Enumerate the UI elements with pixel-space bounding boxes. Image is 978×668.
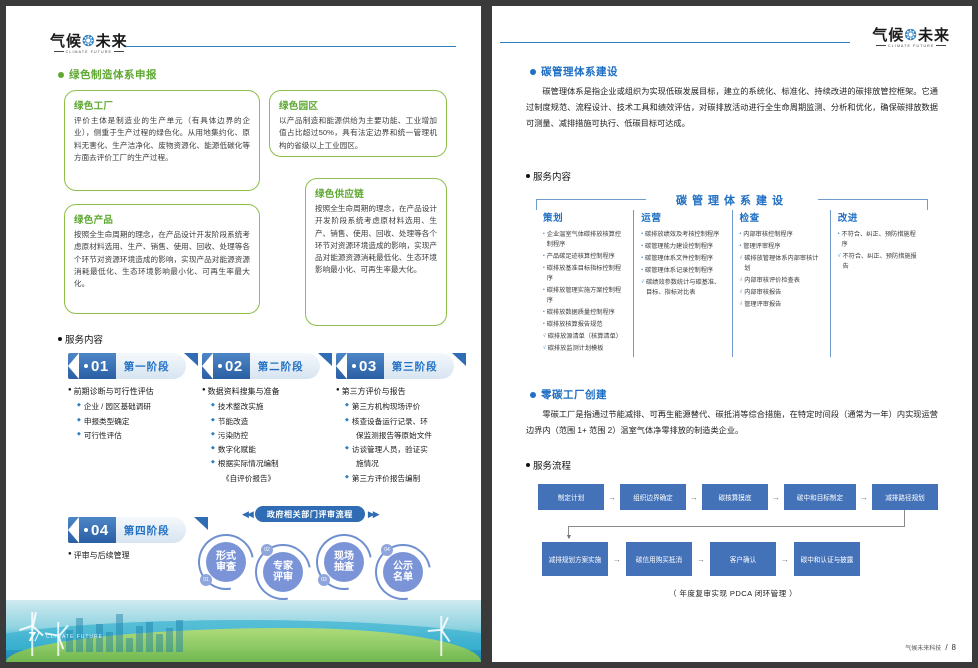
paragraph-zero-carbon-factory: 零碳工厂是指通过节能减排、可再生能源替代、碳抵消等综合措施，在特定时间段（通常为… [526,407,938,439]
table-item: √内部审核报告 [740,288,823,298]
flow-node-r1-1: 制定计划 [538,484,604,510]
subheading-service-content-left: 服务内容 [58,332,103,346]
phase-label-03: 第三阶段 [384,353,454,379]
logo-wordmark: 气候❂未来 [872,28,950,43]
table-item: •产品碳足迹核算控制程序 [543,252,626,262]
table-item: •碳管理能力建设控制程序 [641,242,724,252]
flow-node-r1-4: 碳中和目标制定 [784,484,856,510]
service-flow-chart: 制定计划 → 组织边界确定 → 碳核算摸底 → 碳中和目标制定 → 减排路径规划… [528,484,938,619]
header-rule-right [500,42,850,43]
table-rule-left [536,199,646,200]
flow-arrow-icon: → [604,484,620,510]
page-number-left: 7/ [28,629,39,644]
header-rule-left [126,46,456,47]
table-item: •企业温室气体碳排放核算控制程序 [543,230,626,250]
phase-item: 污染防控 [211,430,332,442]
brand-logo-left: 气候❂未来 CLIMATE FUTURE [50,34,128,55]
phase-item: 节能改造 [211,416,332,428]
paragraph-carbon-management: 碳管理体系是指企业或组织为实现低碳发展目标，建立的系统化、标准化、持续改进的碳排… [526,84,938,132]
section-heading-green-manufacturing: 绿色制造体系申报 [58,67,157,82]
phase-tag-03[interactable]: 03 第三阶段 [336,353,466,379]
flow-connector-horizontal [568,526,905,527]
gov-review-label: 政府相关部门评审流程 [255,506,365,522]
phase-card-02[interactable]: 02 第二阶段 数据资料搜集与准备 技术整改实施 节能改造 污染防控 数字化赋能… [202,353,332,487]
flow-arrow-icon: → [856,484,872,510]
table-item: •碳排放数据质量控制程序 [543,308,626,318]
phase-corner-02 [318,353,332,366]
green-box-supply-chain: 绿色供应链 按照全生命周期的理念，在产品设计开发阶段系统考虑原材料选用、生产、销… [305,178,447,326]
table-item: √碳绩效参数统计与碳基准、目标、指标对比表 [641,278,724,298]
table-item: •不符合、纠正、预防措施程序 [838,230,921,250]
phase-label-01: 第一阶段 [116,353,186,379]
gov-step-index: 01 [200,574,212,586]
cityscape-icon [66,614,183,652]
phase-number-04: 04 [68,517,116,543]
phase-head: 评审与后续管理 [68,550,208,562]
table-tick-right [927,199,928,210]
phase-item-cont: 保监测报告等原始文件 [356,430,466,442]
document-spread: 气候❂未来 CLIMATE FUTURE 绿色制造体系申报 绿色工厂 评价主体是… [0,0,978,668]
section-heading-carbon-management: 碳管理体系建设 [530,64,618,79]
flow-arrow-icon: → [776,542,794,576]
column-header: 检查 [740,210,823,224]
flow-arrow-icon: → [692,542,710,576]
bullet-icon [58,72,64,78]
flow-node-r2-2: 碳信用购买抵消 [626,542,692,576]
table-item: √碳排放监测计划模板 [543,344,626,354]
gov-step-04[interactable]: 公示名单 04 [375,544,431,600]
flow-node-r2-3: 客户确认 [710,542,776,576]
phase-item: 数字化赋能 [211,444,332,456]
gov-step-index: 02 [261,544,273,556]
footer-brand-right: 气候未来科技 [905,643,941,652]
phase-corner-01 [184,353,198,366]
flow-node-r2-1: 减排规划方案实施 [542,542,608,576]
table-item: √管理评审报告 [740,300,823,310]
table-column-planning: 策划 •企业温室气体碳排放核算控制程序 •产品碳足迹核算控制程序 •碳排放基准目… [536,210,633,357]
phase-item: 企业 / 园区基础调研 [77,401,198,413]
phase-corner-03 [452,353,466,366]
gov-step-index: 03 [318,574,330,586]
subheading-service-flow: 服务流程 [526,458,571,472]
brand-logo-right: 气候❂未来 CLIMATE FUTURE [872,28,950,49]
table-title: 碳管理体系建设 [536,192,928,208]
footer-brand-left: CLIMATE FUTURE [46,634,103,640]
logo-subline: CLIMATE FUTURE [876,43,946,49]
table-item: •内部审核控制程序 [740,230,823,240]
gov-review-bar: ◀◀ 政府相关部门评审流程 ▶▶ [242,506,378,522]
flow-node-r1-3: 碳核算摸底 [702,484,768,510]
column-header: 改进 [838,210,921,224]
flow-arrow-icon: ▼ [562,532,576,542]
phase-item: 根据实际情况编制 [211,458,332,470]
phase-list-02: 数据资料搜集与准备 技术整改实施 节能改造 污染防控 数字化赋能 根据实际情况编… [202,386,332,484]
phase-card-03[interactable]: 03 第三阶段 第三方评价与报告 第三方机构现场评价 核查设备运行记录、环 保监… [336,353,466,487]
footer-separator: / [945,643,947,652]
phase-item: 可行性评估 [77,430,198,442]
phase-card-04[interactable]: 04 第四阶段 评审与后续管理 [68,517,208,565]
table-column-improvement: 改进 •不符合、纠正、预防措施程序 √不符合、纠正、预防措施报告 [830,210,928,357]
table-item: •碳管理体系文件控制程序 [641,254,724,264]
table-item: •碳管理体系记录控制程序 [641,266,724,276]
green-box-product: 绿色产品 按照全生命周期的理念，在产品设计开发阶段系统考虑原材料选用、生产、销售… [64,204,260,314]
ring-icon [305,523,383,601]
bullet-icon [530,392,536,398]
right-page: 气候❂未来 CLIMATE FUTURE 碳管理体系建设 碳管理体系是指企业或组… [492,6,972,662]
subheading-service-content-right: 服务内容 [526,169,571,183]
page-number-right: 8 [952,643,956,652]
logo-wordmark: 气候❂未来 [50,34,128,49]
phase-label-02: 第二阶段 [250,353,320,379]
right-arrow-icon: ▶▶ [368,509,378,520]
flow-arrow-icon: → [686,484,702,510]
gov-step-02[interactable]: 专家评审 02 [255,544,311,600]
bullet-icon [530,69,536,75]
flow-arrow-icon: → [768,484,784,510]
phase-item: 申报类型确定 [77,416,198,428]
bullet-icon [526,463,530,467]
left-arrow-icon: ◀◀ [242,509,252,520]
phase-number-01: 01 [68,353,116,379]
phase-item: 技术整改实施 [211,401,332,413]
table-item: •碳排放核算报告规范 [543,320,626,330]
phase-number-03: 03 [336,353,384,379]
bullet-icon [526,174,530,178]
phase-list-01: 前期诊断与可行性评估 企业 / 园区基础调研 申报类型确定 可行性评估 [68,386,198,442]
gov-step-03[interactable]: 现场抽查 03 [316,534,372,590]
flow-caption: （ 年度复审实现 PDCA 闭环管理 ） [528,588,938,599]
section-heading-zero-carbon-factory: 零碳工厂创建 [530,387,607,402]
table-columns: 策划 •企业温室气体碳排放核算控制程序 •产品碳足迹核算控制程序 •碳排放基准目… [536,210,928,357]
table-item: √内部审核评价检查表 [740,276,823,286]
phase-item-cont: 施情况 [356,458,466,470]
phase-item: 第三方机构现场评价 [345,401,466,413]
table-column-check: 检查 •内部审核控制程序 •管理评审程序 √碳排放管理体系内部审核计划 √内部审… [732,210,830,357]
column-header: 运营 [641,210,724,224]
flow-node-r2-4: 碳中和认证与披露 [794,542,860,576]
gov-step-index: 04 [381,544,393,556]
table-item: •碳排放基准目标指标控制程序 [543,264,626,284]
table-item: •碳排放绩效及考核控制程序 [641,230,724,240]
column-header: 策划 [543,210,626,224]
left-footer-illustration: CLIMATE FUTURE 7/ [6,600,481,662]
bullet-icon [58,337,62,341]
flow-arrow-icon: → [608,542,626,576]
carbon-management-table: 碳管理体系建设 策划 •企业温室气体碳排放核算控制程序 •产品碳足迹核算控制程序… [536,192,928,367]
table-item: √不符合、纠正、预防措施报告 [838,252,921,272]
phase-number-02: 02 [202,353,250,379]
table-item: √碳排放管理体系内部审核计划 [740,254,823,274]
table-tick-left [536,199,537,210]
phase-card-01[interactable]: 01 第一阶段 前期诊断与可行性评估 企业 / 园区基础调研 申报类型确定 可行… [68,353,198,444]
phase-head: 第三方评价与报告 [336,386,466,398]
phase-list-04: 评审与后续管理 [68,550,208,562]
green-box-factory: 绿色工厂 评价主体是制造业的生产单元（有具体边界的企业），侧重于生产过程的绿色化… [64,90,260,191]
phase-item: 核查设备运行记录、环 [345,416,466,428]
phase-tag-02[interactable]: 02 第二阶段 [202,353,332,379]
phase-head: 数据资料搜集与准备 [202,386,332,398]
table-column-operation: 运营 •碳排放绩效及考核控制程序 •碳管理能力建设控制程序 •碳管理体系文件控制… [633,210,731,357]
table-item: •碳排放管理实施方案控制程序 [543,286,626,306]
phase-list-03: 第三方评价与报告 第三方机构现场评价 核查设备运行记录、环 保监测报告等原始文件… [336,386,466,484]
phase-label-04: 第四阶段 [116,517,186,543]
green-box-park: 绿色园区 以产品制造和能源供给为主要功能、工业增加值占比超过50%，具有法定边界… [269,90,447,157]
phase-tag-04[interactable]: 04 第四阶段 [68,517,208,543]
flow-node-r1-5: 减排路径规划 [872,484,938,510]
phase-item: 访谈管理人员，验证实 [345,444,466,456]
table-item: •管理评审程序 [740,242,823,252]
phase-corner-04 [194,517,208,530]
flow-connector-vertical [904,510,905,526]
phase-item-cont: 《自评价报告》 [222,473,332,485]
phase-item: 第三方评价报告编制 [345,473,466,485]
left-page: 气候❂未来 CLIMATE FUTURE 绿色制造体系申报 绿色工厂 评价主体是… [6,6,481,662]
logo-subline: CLIMATE FUTURE [54,49,124,55]
table-rule-right [818,199,928,200]
phase-tag-01[interactable]: 01 第一阶段 [68,353,198,379]
gov-step-01[interactable]: 形式审查 01 [198,534,254,590]
flow-node-r1-2: 组织边界确定 [620,484,686,510]
footer-right: 气候未来科技 / 8 [905,643,956,652]
table-item: √碳排放源清单（核算清单） [543,332,626,342]
phase-head: 前期诊断与可行性评估 [68,386,198,398]
wind-turbine-icon [430,616,452,656]
